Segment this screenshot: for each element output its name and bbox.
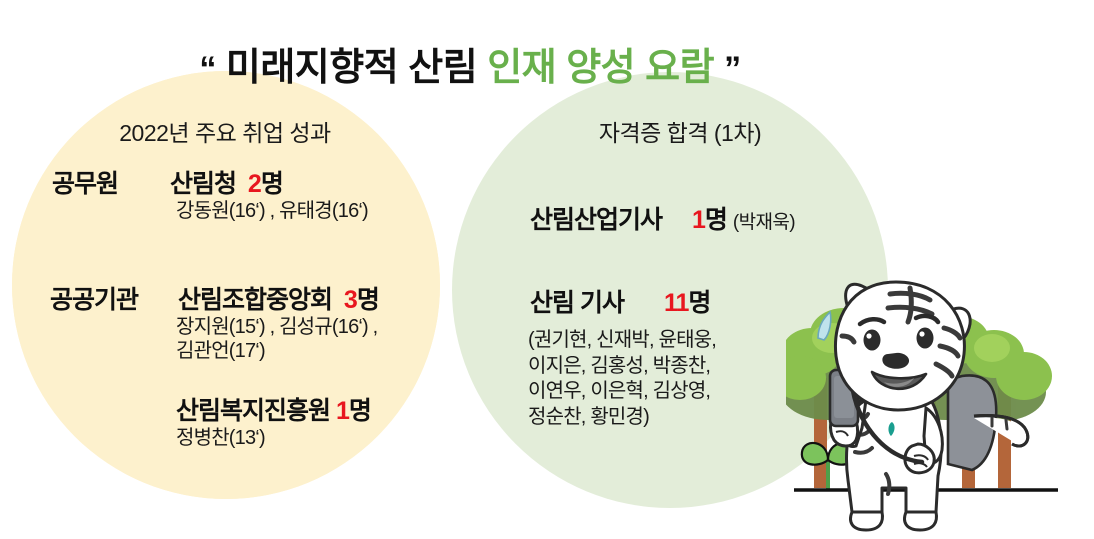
right-row-1-names: (권기현, 신재박, 윤태웅, 이지은, 김홍성, 박종찬, 이연우, 이은혁,… xyxy=(528,328,716,430)
left-row-1-unit: 명 xyxy=(357,286,379,314)
left-row-forest-welfare: 산림복지진흥원 1명 xyxy=(176,391,371,427)
left-row-2-organization: 산림복지진흥원 xyxy=(176,397,330,425)
right-row-1-names-line2: 이지은, 김홍성, 박종찬, xyxy=(528,354,716,380)
left-row-1-category: 공공기관 xyxy=(50,280,178,316)
title-black-part: 미래지향적 산림 xyxy=(226,47,477,89)
left-row-1-names-line2: 김관언(17‘) xyxy=(176,340,377,364)
right-row-1-unit: 명 xyxy=(688,289,710,317)
left-row-1-names-line1: 장지원(15‘) , 김성규(16‘) , xyxy=(176,316,377,340)
left-row-public-institution: 공공기관산림조합중앙회 3명 xyxy=(50,280,379,316)
right-row-industrial-engineer: 산림산업기사1명 (박재욱) xyxy=(530,200,795,236)
left-row-2-names: 정병찬(13‘) xyxy=(176,427,265,451)
right-row-0-detail: (박재욱) xyxy=(733,212,795,233)
left-panel-heading: 2022년 주요 취업 성과 xyxy=(30,114,420,148)
right-row-1-names-line4: 정순찬, 황민경) xyxy=(528,405,716,431)
right-row-forest-engineer: 산림 기사11명 xyxy=(530,283,710,319)
right-row-0-unit: 명 xyxy=(705,206,727,234)
left-row-1-count: 3 xyxy=(344,286,357,314)
right-panel-heading: 자격증 합격 (1차) xyxy=(500,114,860,148)
poster-canvas: “ 미래지향적 산림 인재 양성 요람 ” 2022년 주요 취업 성과 공무원… xyxy=(0,0,1094,539)
left-row-0-unit: 명 xyxy=(261,170,283,198)
left-row-0-count: 2 xyxy=(248,170,261,198)
left-row-2-unit: 명 xyxy=(349,397,371,425)
right-row-0-title: 산림산업기사 xyxy=(530,206,662,234)
left-row-0-organization: 산림청 xyxy=(170,170,236,198)
right-row-1-names-line1: (권기현, 신재박, 윤태웅, xyxy=(528,328,716,354)
page-title: “ 미래지향적 산림 인재 양성 요람 ” xyxy=(0,36,940,91)
right-row-1-names-line3: 이연우, 이은혁, 김상영, xyxy=(528,379,716,405)
left-row-1-names: 장지원(15‘) , 김성규(16‘) , 김관언(17‘) xyxy=(176,316,377,363)
left-row-0-category: 공무원 xyxy=(52,164,170,200)
left-row-1-organization: 산림조합중앙회 xyxy=(178,286,332,314)
left-row-2-count: 1 xyxy=(336,397,349,425)
left-row-0-names: 강동원(16‘) , 유태경(16‘) xyxy=(176,200,368,224)
tiger-feet xyxy=(851,512,937,530)
title-quote-close: ” xyxy=(724,50,741,88)
right-row-1-title: 산림 기사 xyxy=(530,289,624,317)
right-row-1-count: 11 xyxy=(664,289,688,317)
title-green-part: 인재 양성 요람 xyxy=(487,47,714,89)
left-row-public-servant: 공무원산림청 2명 xyxy=(52,164,283,200)
forest-scene xyxy=(786,268,1094,539)
title-quote-open: “ xyxy=(199,50,216,88)
right-row-0-count: 1 xyxy=(692,206,705,234)
